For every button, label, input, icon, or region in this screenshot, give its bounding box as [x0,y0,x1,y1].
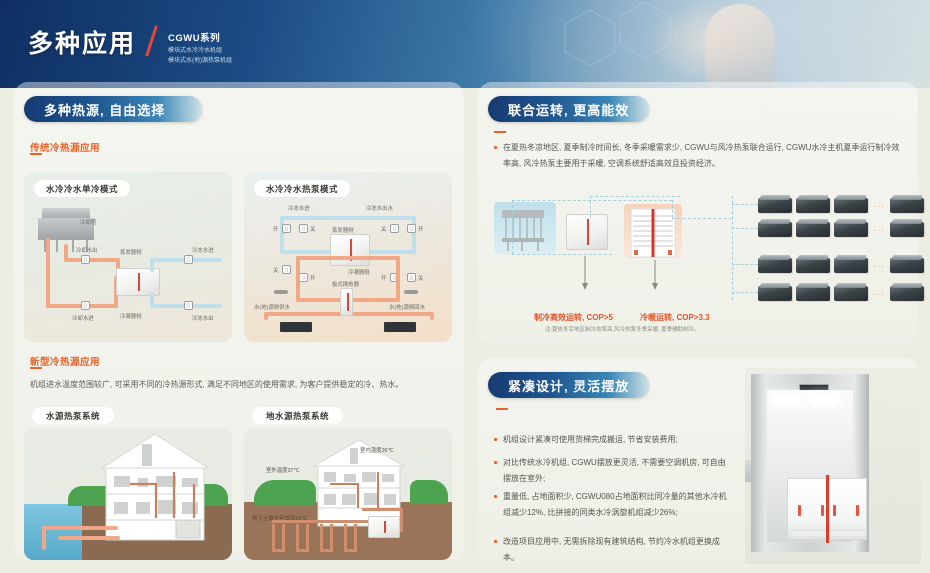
label-evaporator-side: 蒸发器侧 [120,248,142,256]
hand-photo-detail [705,4,775,88]
label-condenser-side: 冷凝器侧 [120,312,142,320]
grey-pipe-right [404,290,418,294]
label-open-4: 开 [381,274,386,282]
elevator-photo [745,368,921,564]
label-close-2: 关 [381,225,386,233]
pipe-chilled-out-rise [150,292,154,306]
fan-coil-unit [758,286,792,301]
page-title: 多种应用 [28,24,136,60]
pipe-hp-chilled-top [280,216,416,220]
valve-cooling-out: ▯ [81,255,90,264]
fan-coil-unit [758,222,792,237]
divider-dash-3 [494,131,506,133]
cooling-tower-top [42,208,90,218]
source-well-left [280,322,312,332]
diagram-1-title: 水冷冷水单冷模式 [34,180,130,197]
fan-coil-unit [890,198,924,213]
label-hp-condenser: 冷凝器侧 [348,268,370,276]
diagram-ground-source-system: 室内温度26℃ 室外温度37℃ 地下土壤全年恒温16℃ [244,428,452,560]
valve-cooling-in: ▯ [81,301,90,310]
pipe-source-right-drop [430,312,434,320]
system-schematic: ... ... ... ... [494,186,902,310]
valve-hp-5: ▯ [282,265,291,274]
water-body [24,504,82,560]
divider-dash-4 [496,408,508,410]
label-cooling-tower: 冷却塔 [80,218,96,226]
valve-hp-6: ▯ [299,273,308,282]
ceiling-light-left [773,396,799,405]
diagram-water-source-system [24,428,232,560]
pipe-water-intake [42,526,118,530]
label-cooling-water-in: 冷却水进 [72,314,94,322]
conn-row1 [732,204,758,205]
label-hp-chilled-out: 冷冻水出水 [366,204,393,212]
ellipsis-row-2: ... [874,224,885,233]
conn-fcu-bus [732,196,733,300]
conn-top-main [512,200,672,201]
fan-coil-unit [796,222,830,237]
air-cooled-heatpump-icon [630,208,676,258]
hp-chiller-unit [330,234,370,266]
pipe-hp-right-drop [412,216,416,252]
valve-hp-3: ▯ [390,224,399,233]
arrow-down-icon-1 [580,256,590,292]
label-plate-heat-exchanger: 板式换热器 [332,280,359,288]
bullet-item: 重量低, 占地面积少, CGWU080占地面积比同冷量的其他水冷机组减少12%,… [503,489,733,520]
bullet-item: 机组设计紧凑可使用货梯完成搬运, 节省安装费用; [503,432,733,448]
conn-to-fcu-bus [672,218,732,219]
pipe-cooling-out-horizontal [64,258,120,262]
diagram-water-cooled-cooling-mode: 水冷冷水单冷模式 冷却塔 ▯ ▯ 冷却水出 冷却水进 蒸发器侧 冷凝器侧 ▯ [24,172,232,342]
pipe-tower-out [64,244,68,262]
conn-drop-2 [590,196,591,218]
fan-coil-unit [890,222,924,237]
ellipsis-row-4: ... [874,288,885,297]
fan-coil-unit [890,286,924,301]
label-cooling-water-out: 冷却水出 [76,246,98,254]
pipe-warm-top [296,256,400,260]
valve-chilled-out: ▯ [184,301,193,310]
label-outdoor-temp: 室外温度37℃ [266,466,300,474]
label-chilled-water-in: 冷冻水进 [192,246,214,254]
valve-hp-2: ▯ [299,224,308,233]
pipe-source-left-drop [264,312,268,320]
plate-heat-exchanger [340,288,353,316]
label-new-source: 新型冷热源应用 [30,354,100,368]
diagram-2-title: 水冷冷水热泵模式 [254,180,350,197]
bullet-item: 对比传统水冷机组, CGWU摆放更灵活, 不需要空调机房, 可自由摆放在室外; [503,455,733,486]
conn-tower-chiller [512,254,612,255]
fan-coil-unit [796,198,830,213]
series-block: CGWU系列 模块式水冷冷水机组 模块式水(地)源热泵机组 [168,30,232,66]
series-subtitle-1: 模块式水冷冷水机组 [168,47,232,56]
module-handle-1 [798,505,801,516]
pipe-water-return [58,536,120,540]
fan-coil-unit [834,286,868,301]
heading-combined-operation: 联合运转, 更高能效 [488,96,649,122]
tag-ground-water-source-heatpump: 地水源热泵系统 [252,407,343,424]
text-new-source-desc: 机组进水温度范围较广, 可采用不同的冷热源形式, 满足不同地区的使用需求, 为客… [30,378,442,393]
module-handle-4 [856,505,859,516]
fan-coil-unit [758,198,792,213]
divider-dash-2 [30,367,42,369]
series-subtitle-2: 模块式水(地)源热泵机组 [168,57,232,66]
fan-coil-unit [834,222,868,237]
conn-row2 [732,228,758,229]
heading-compact-design: 紧凑设计, 灵活摆放 [488,372,649,398]
label-cop-heating: 冷暖运转, COP>3.3 [640,312,710,323]
fan-coil-unit [834,258,868,273]
label-close-4: 关 [418,274,423,282]
label-cop-cooling: 制冷高效运转, COP>5 [534,312,613,323]
label-open-3: 开 [310,274,315,282]
valve-chilled-in: ▯ [184,255,193,264]
ellipsis-row-1: ... [874,200,885,209]
label-traditional-source: 传统冷热源应用 [30,140,100,154]
tag-water-source-heatpump: 水源热泵系统 [32,407,114,424]
label-hp-evaporator: 蒸发器侧 [332,226,354,234]
fan-coil-unit [834,198,868,213]
pipe-warm-left [296,256,300,302]
fan-coil-unit [796,258,830,273]
text-combined-operation-body: 在夏热冬凉地区, 夏季制冷时间长, 冬季采暖需求少, CGWU与风冷热泵联合运行… [503,140,903,171]
label-indoor-temp: 室内温度26℃ [360,446,394,454]
note-footnote: 注:夏热冬凉地区制冷效率高,风冷热泵冬季采暖, 夏季辅助制冷。 [545,325,700,333]
pipe-hp-left-drop [280,216,284,252]
label-hp-chilled-in: 冷冻水进 [288,204,310,212]
arrow-down-icon-2 [650,260,660,292]
label-source-return: 水(地)源侧回水 [389,303,425,311]
brochure-page: 多种应用 CGWU系列 模块式水冷冷水机组 模块式水(地)源热泵机组 多种热源,… [0,0,930,573]
pipe-cooling-supply-vertical [46,238,50,308]
ceiling-light-right [811,396,837,405]
conn-tower-riser [512,200,513,254]
grey-pipe-left [274,290,288,294]
pipe-warm-right [396,256,400,302]
chiller-schematic-unit [566,214,608,250]
page-header: 多种应用 CGWU系列 模块式水冷冷水机组 模块式水(地)源热泵机组 [0,0,930,88]
pipe-chilled-in-drop [150,258,154,272]
module-handle-3 [833,505,836,516]
cooling-tower-icon [500,208,546,252]
bullet-item: 改造项目应用中, 无需拆除现有建筑结构, 节约冷水机组更换成本。 [503,534,733,565]
diagram-water-cooled-heatpump-mode: 水冷冷水热泵模式 冷冻水进 冷冻水出水 ▯ ▯ ▯ ▯ ▯ ▯ ▯ ▯ 开 关 … [244,172,452,342]
module-base [792,530,864,536]
conn-row4 [732,292,758,293]
bush-left-2 [254,480,316,506]
elevator-door-frame [751,374,869,552]
bush-right-2 [410,480,448,504]
series-name: CGWU系列 [168,30,232,44]
divider-dash-1 [30,153,42,155]
conn-row3 [732,264,758,265]
label-source-supply: 水(地)源侧供水 [254,303,290,311]
label-chilled-water-out: 冷冻水出 [192,314,214,322]
conn-drop-1 [672,200,673,218]
label-close-1: 关 [310,225,315,233]
fan-coil-unit [796,286,830,301]
pipe-water-intake-down [42,526,46,550]
valve-hp-8: ▯ [407,273,416,282]
chiller-module-in-elevator [787,478,867,540]
fan-coil-unit [758,258,792,273]
conn-top-second [590,196,680,197]
valve-hp-4: ▯ [407,224,416,233]
ellipsis-row-3: ... [874,260,885,269]
label-open-2: 开 [418,225,423,233]
title-divider-slash [145,25,158,56]
elevator-cabin [767,390,853,542]
source-well-right [384,322,416,332]
ground-source-unit [368,516,400,538]
heading-multi-heat-source: 多种热源, 自由选择 [24,96,202,122]
label-close-3: 关 [273,266,278,274]
fan-coil-unit [890,258,924,273]
valve-hp-1: ▯ [282,224,291,233]
module-handle-2 [821,505,824,516]
label-open-1: 开 [273,225,278,233]
